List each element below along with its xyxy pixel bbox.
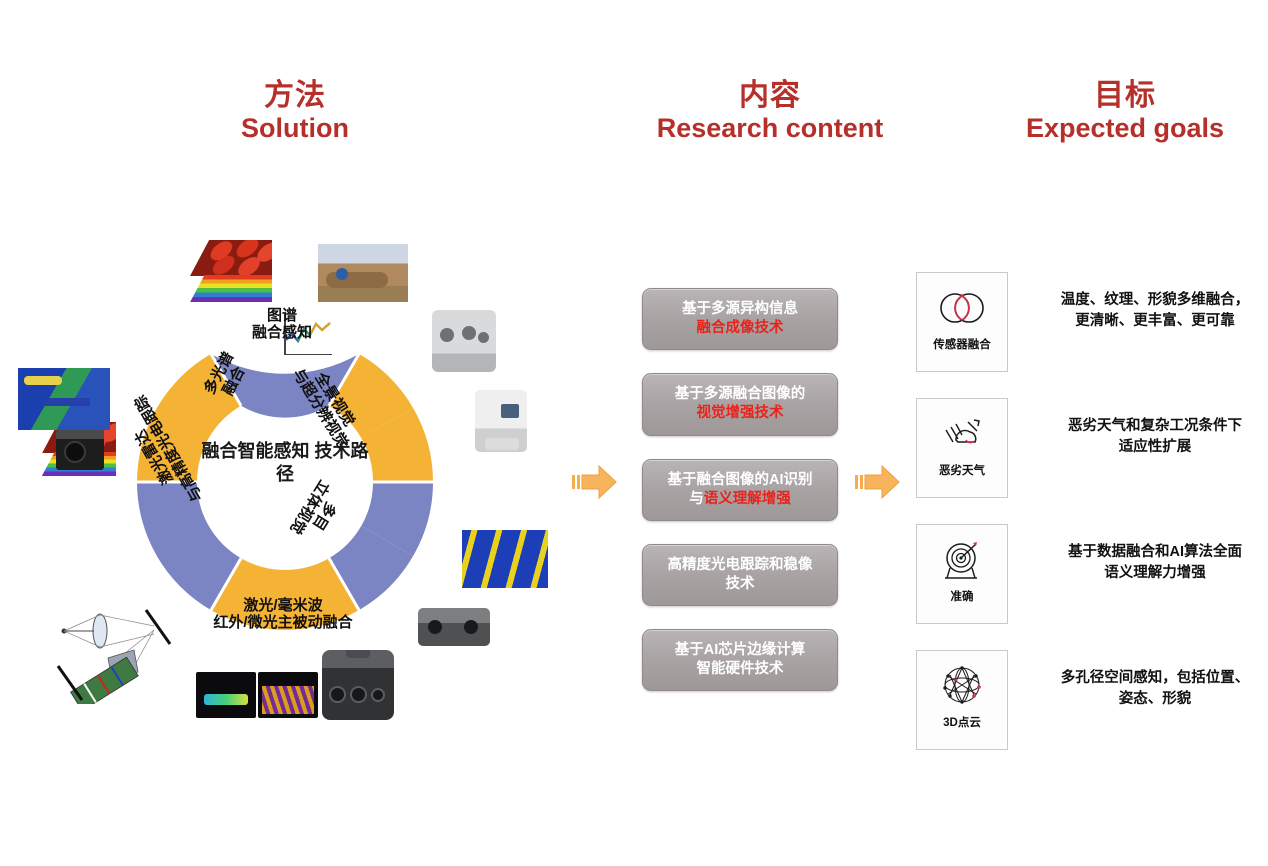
wheel-center-title: 融合智能感知 技术路径	[195, 440, 375, 487]
header-content-cn: 内容	[610, 78, 930, 113]
thermal-image-thumbnail	[18, 368, 110, 430]
research-box-5[interactable]: 基于AI芯片边缘计算 智能硬件技术	[642, 629, 838, 691]
technology-roadmap-wheel: 图谱 融合感知 全景视觉 与超分辨视觉 多目 立体视觉 激光/毫米波 红外/微光…	[135, 285, 435, 680]
rain-weather-icon	[936, 408, 988, 460]
venn-circles-icon	[936, 282, 988, 334]
goal-card-bad-weather[interactable]: 恶劣天气	[916, 398, 1008, 498]
wheel-label-bottom: 激光/毫米波 红外/微光主被动融合	[163, 597, 403, 632]
research-box-3[interactable]: 基于融合图像的AI识别 与语义理解增强	[642, 459, 838, 521]
arrow-right-icon-2	[855, 460, 901, 504]
research-box-2[interactable]: 基于多源融合图像的 视觉增强技术	[642, 373, 838, 435]
pointcloud-vehicle-1	[204, 694, 248, 705]
thermal-object	[44, 398, 90, 406]
turret-lens-1	[329, 686, 346, 703]
header-solution-cn: 方法	[185, 78, 405, 113]
goal-desc-4: 多孔径空间感知，包括位置、 姿态、形貌	[1030, 668, 1268, 710]
goal-desc-2: 恶劣天气和复杂工况条件下 适应性扩展	[1030, 416, 1268, 458]
pipe-detail	[336, 268, 348, 280]
rig-lens-2	[462, 326, 476, 340]
ptu-screen	[501, 404, 519, 418]
panoramic-camera-rig-thumbnail	[432, 310, 496, 372]
wheel-label-top: 图谱 融合感知	[207, 307, 357, 342]
header-goals-en: Expected goals	[975, 113, 1268, 145]
header-goals-cn: 目标	[975, 78, 1268, 113]
research-box-1[interactable]: 基于多源异构信息 融合成像技术	[642, 288, 838, 350]
ptu-base	[485, 438, 519, 450]
goal-card-accuracy[interactable]: 准确	[916, 524, 1008, 624]
pan-tilt-unit-thumbnail	[475, 390, 527, 452]
target-bullseye-icon	[936, 534, 988, 586]
turret-lens-2	[350, 686, 367, 703]
goal-card-sensor-fusion[interactable]: 传感器融合	[916, 272, 1008, 372]
header-solution-en: Solution	[185, 113, 405, 145]
thermal-camera-thumbnail	[56, 430, 104, 470]
point-cloud-sphere-icon	[936, 660, 988, 712]
pointcloud-scene-2	[262, 686, 314, 714]
structured-light-pattern-thumbnail	[462, 530, 548, 588]
header-expected-goals: 目标 Expected goals	[975, 78, 1268, 145]
header-solution: 方法 Solution	[185, 78, 405, 145]
turret-lens-3	[371, 688, 385, 702]
header-research-content: 内容 Research content	[610, 78, 930, 145]
research-box-3-line2: 与语义理解增强	[651, 490, 829, 509]
research-content-column: 基于多源异构信息 融合成像技术 基于多源融合图像的 视觉增强技术 基于融合图像的…	[642, 288, 838, 714]
camera-lens	[64, 441, 86, 463]
header-content-en: Research content	[610, 113, 930, 145]
arrow-solution-to-content	[572, 460, 618, 504]
arrow-right-icon	[572, 460, 618, 504]
goal-desc-3: 基于数据融合和AI算法全面 语义理解力增强	[1030, 542, 1268, 584]
goal-card-point-cloud[interactable]: 3D点云	[916, 650, 1008, 750]
goal-desc-1: 温度、纹理、形貌多维融合， 更清晰、更丰富、更可靠	[1030, 290, 1268, 332]
rig-lens-1	[440, 328, 454, 342]
thermal-hotspot	[24, 376, 62, 385]
rig-lens-3	[478, 332, 489, 343]
cube-top-face	[190, 240, 272, 276]
arrow-content-to-goals	[855, 460, 901, 504]
research-box-4[interactable]: 高精度光电跟踪和稳像 技术	[642, 544, 838, 606]
stereo-lens-right	[464, 620, 478, 634]
